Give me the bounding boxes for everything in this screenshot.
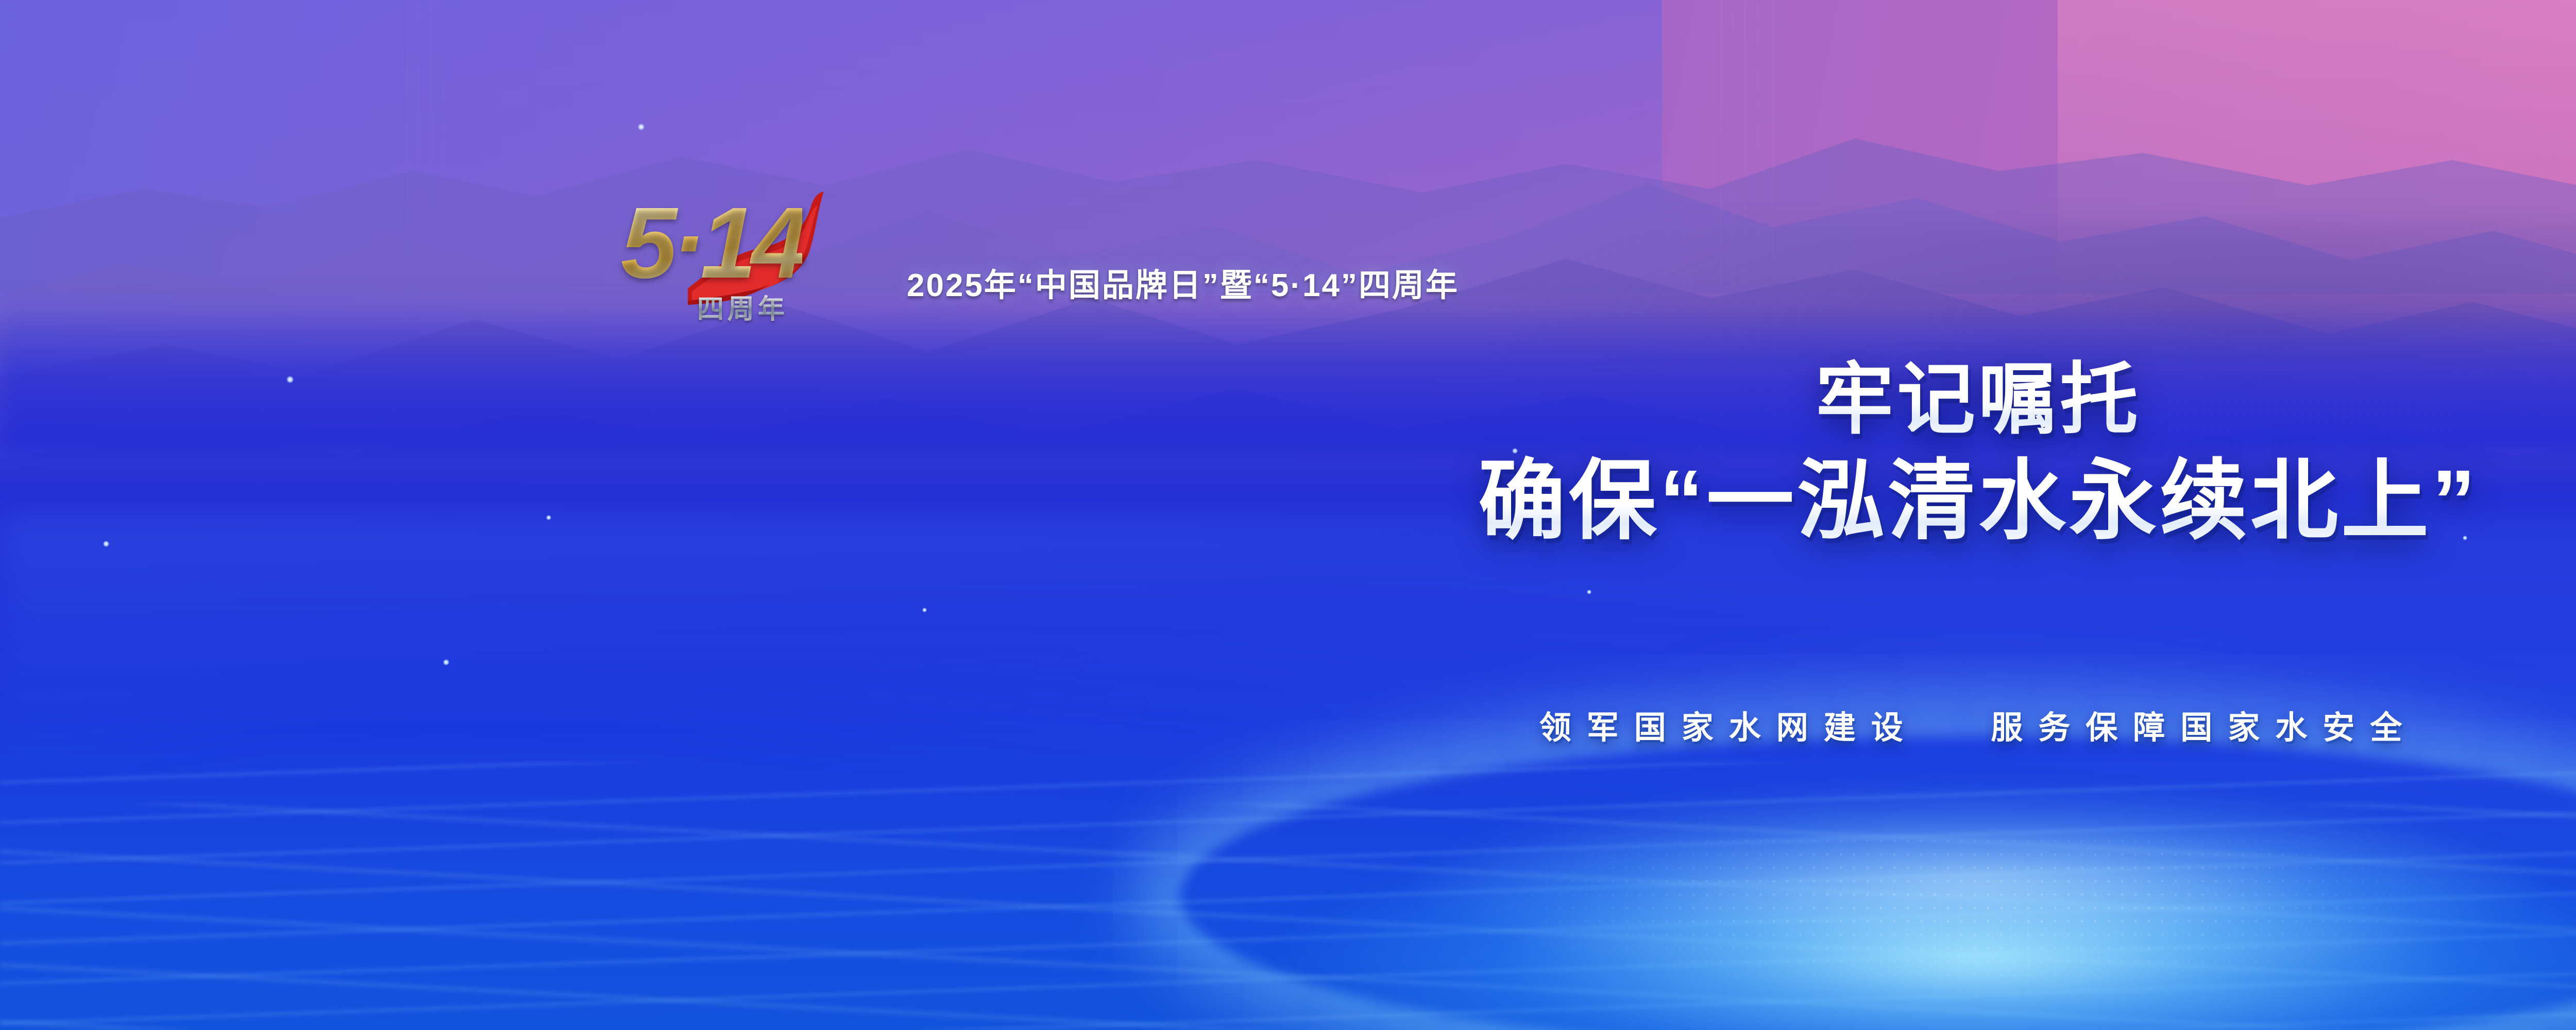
event-title: 2025年“中国品牌日”暨“5·14”四周年 xyxy=(907,259,1459,305)
anniversary-mark: 5·14 xyxy=(621,193,802,294)
subtitle: 领军国家水网建设 服务保障国家水安全 xyxy=(0,701,2576,748)
banner-root: 5·14 四周年 2025年“中国品牌日”暨“5·14”四周年 xyxy=(0,0,2576,1030)
subtitle-part-2: 服务保障国家水安全 xyxy=(1991,710,2417,746)
anniversary-lockup: 5·14 四周年 xyxy=(621,185,837,335)
subtitle-part-1: 领军国家水网建设 xyxy=(1539,710,1919,746)
headline-line-1: 牢记嘱托 xyxy=(0,355,2576,444)
anniversary-label: 四周年 xyxy=(697,287,788,326)
headline-line-2: 确保“一泓清水永续北上” xyxy=(0,452,2576,552)
headline: 牢记嘱托 确保“一泓清水永续北上” xyxy=(0,355,2576,552)
